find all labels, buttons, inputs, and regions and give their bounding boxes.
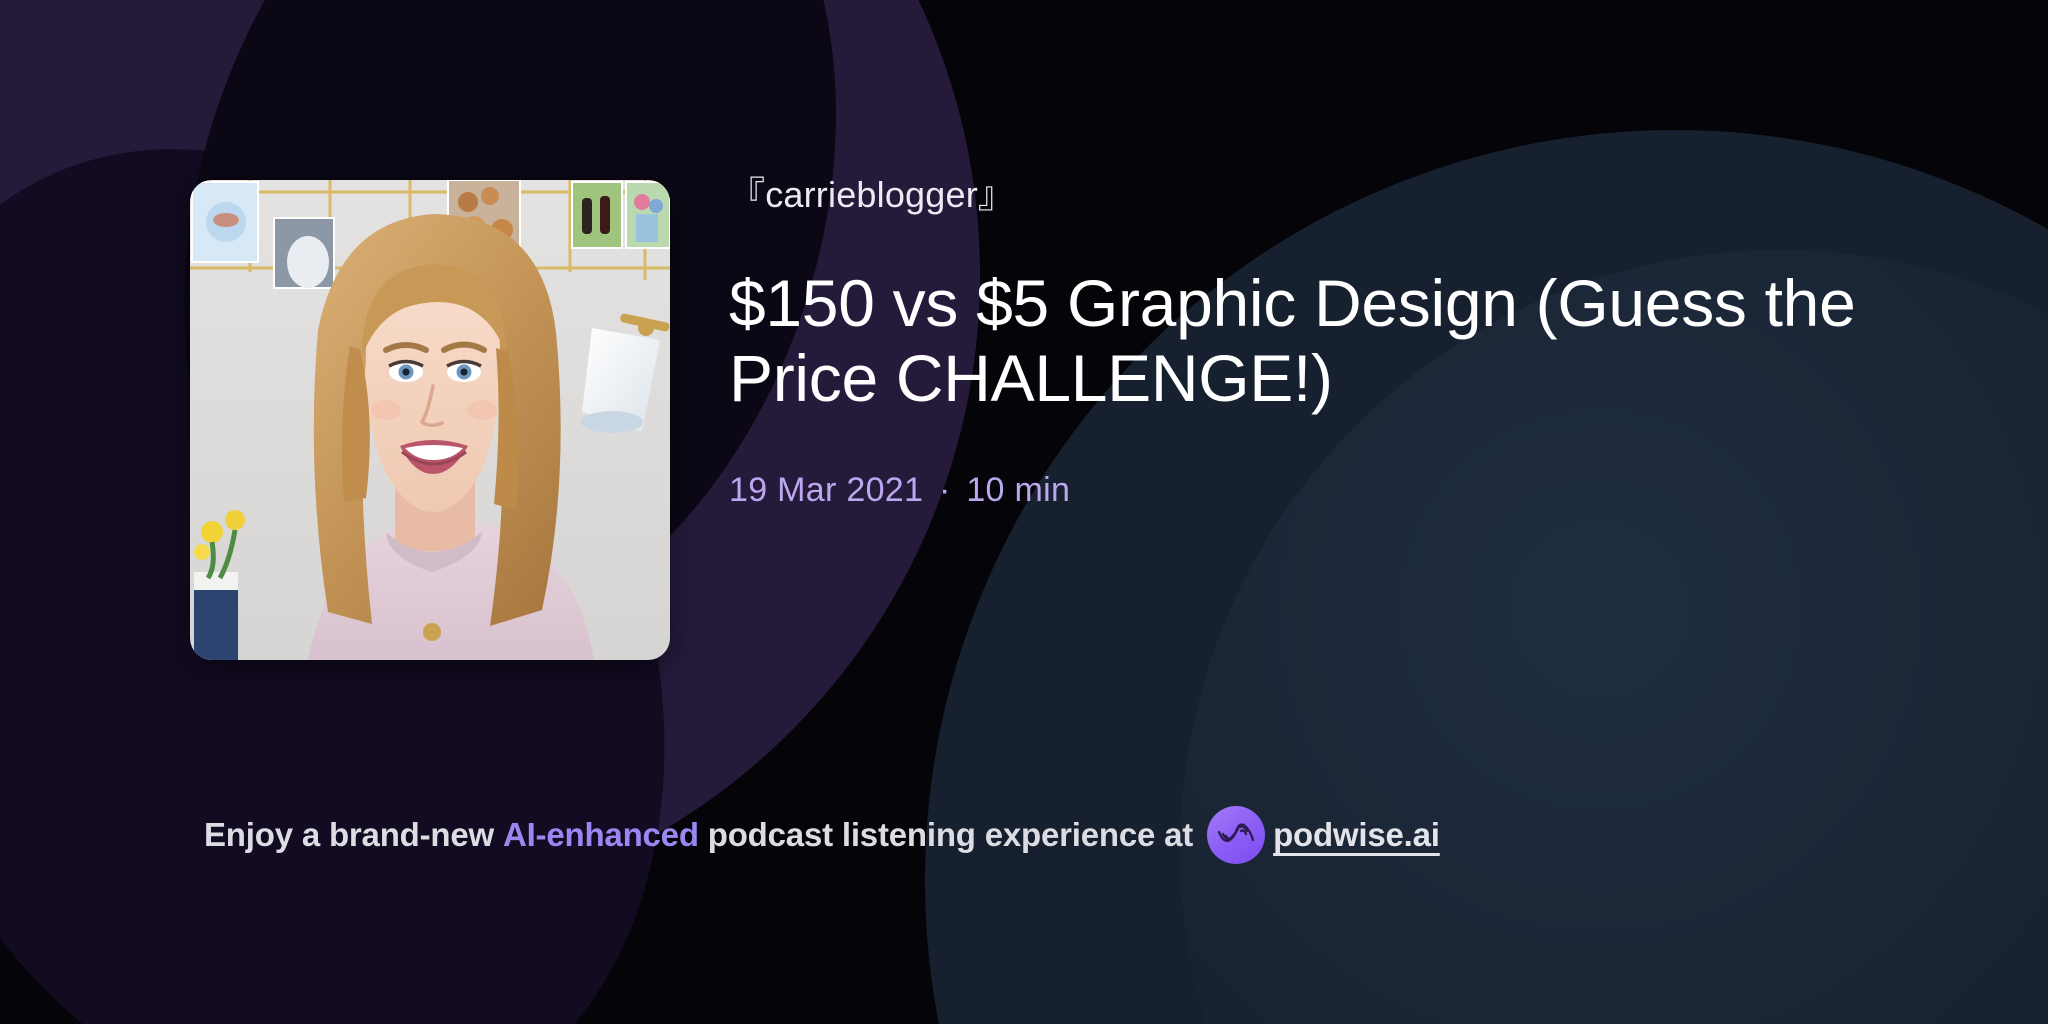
podwise-wave-icon [1207,806,1265,864]
podcast-share-card: 『carrieblogger』 $150 vs $5 Graphic Desig… [0,0,2048,1024]
tagline-space-1 [494,816,503,854]
episode-cover-thumbnail [190,180,670,660]
episode-duration: 10 min [966,471,1070,509]
episode-text-column: 『carrieblogger』 $150 vs $5 Graphic Desig… [729,172,1909,510]
episode-title: $150 vs $5 Graphic Design (Guess the Pri… [729,266,1869,415]
episode-date: 19 Mar 2021 [729,471,923,509]
podwise-link[interactable]: podwise.ai [1273,816,1440,854]
tagline-text-before: Enjoy a brand-new [204,816,494,854]
tagline-space-2 [699,816,708,854]
cover-artwork [190,180,670,660]
meta-separator: · [933,471,957,509]
tagline-accent-text: AI-enhanced [503,816,699,854]
card-content: 『carrieblogger』 $150 vs $5 Graphic Desig… [0,0,2048,1024]
tagline-text-after: podcast listening experience at [708,816,1193,854]
footer-tagline: Enjoy a brand-new AI-enhanced podcast li… [204,806,1440,864]
podwise-brand[interactable]: podwise.ai [1207,806,1440,864]
podcast-name: 『carrieblogger』 [729,172,1909,217]
episode-meta: 19 Mar 2021 · 10 min [729,471,1909,510]
